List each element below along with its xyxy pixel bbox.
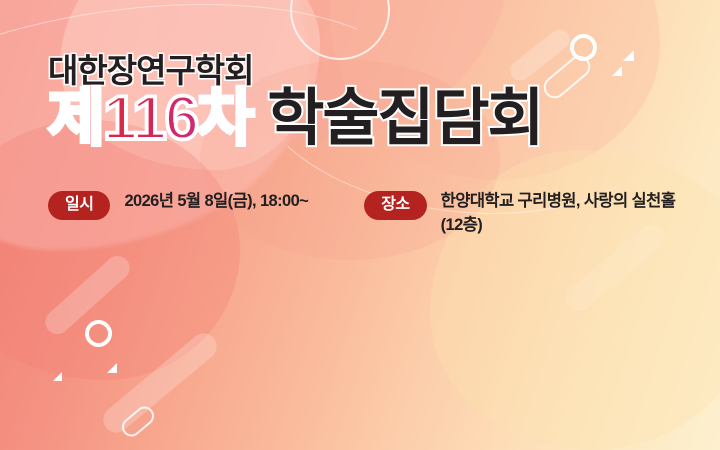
page-title: 제116차 학술집담회 — [48, 88, 543, 150]
event-venue-value: 한양대학교 구리병원, 사랑의 실천홀 (12층) — [441, 190, 676, 238]
venue-line-1: 한양대학교 구리병원, 사랑의 실천홀 — [441, 192, 676, 210]
status-badge-date: 일시 — [48, 191, 110, 220]
event-venue-group: 장소 한양대학교 구리병원, 사랑의 실천홀 (12층) — [364, 190, 675, 238]
event-banner: 대한장연구학회 제116차 학술집담회 일시 2026년 5월 8일(금), 1… — [0, 0, 720, 450]
event-details: 일시 2026년 5월 8일(금), 18:00~ 장소 한양대학교 구리병원,… — [48, 190, 675, 238]
title-event-type: 학술집담회 — [267, 84, 542, 153]
event-date-value: 2026년 5월 8일(금), 18:00~ — [124, 190, 308, 214]
venue-line-2: (12층) — [441, 214, 676, 238]
title-spacer — [252, 84, 267, 153]
status-badge-venue: 장소 — [364, 191, 426, 220]
banner-content: 대한장연구학회 제116차 학술집담회 일시 2026년 5월 8일(금), 1… — [0, 0, 720, 450]
event-date-group: 일시 2026년 5월 8일(금), 18:00~ — [48, 190, 308, 220]
title-session-number: 제116차 — [48, 84, 252, 153]
